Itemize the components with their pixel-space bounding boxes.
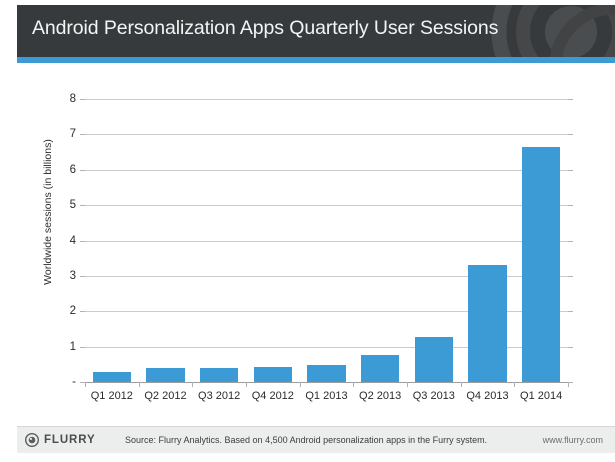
x-tick-mark [568, 382, 569, 387]
y-tick-label: 7 [70, 128, 76, 140]
page-title: Android Personalization Apps Quarterly U… [32, 17, 498, 40]
gridline [85, 99, 568, 100]
x-tick-label: Q4 2012 [246, 390, 300, 402]
y-tick-mark [80, 311, 85, 312]
y-tick-mark-right [568, 347, 573, 348]
x-tick-label: Q1 2013 [300, 390, 354, 402]
y-tick-mark [80, 241, 85, 242]
target-circle-icon [25, 433, 39, 447]
bar[interactable] [468, 265, 506, 382]
bar[interactable] [415, 337, 453, 382]
y-tick-mark [80, 99, 85, 100]
y-tick-mark [80, 276, 85, 277]
bar[interactable] [200, 368, 238, 382]
bar[interactable] [146, 368, 184, 382]
y-tick-mark [80, 170, 85, 171]
x-tick-mark [353, 382, 354, 387]
y-tick-mark-right [568, 241, 573, 242]
y-tick-label: 8 [70, 93, 76, 105]
y-tick-mark [80, 134, 85, 135]
x-tick-mark [246, 382, 247, 387]
source-note: Source: Flurry Analytics. Based on 4,500… [125, 435, 487, 445]
bar[interactable] [307, 365, 345, 382]
y-tick-mark-right [568, 99, 573, 100]
flurry-logo: FLURRY [25, 433, 96, 447]
x-tick-mark [139, 382, 140, 387]
bar[interactable] [93, 372, 131, 382]
bar[interactable] [361, 355, 399, 382]
y-tick-mark-right [568, 311, 573, 312]
x-tick-mark [407, 382, 408, 387]
x-tick-label: Q3 2012 [192, 390, 246, 402]
chart-header-banner: Android Personalization Apps Quarterly U… [17, 5, 615, 57]
x-tick-mark [514, 382, 515, 387]
gridline [85, 205, 568, 206]
x-tick-label: Q1 2014 [514, 390, 568, 402]
y-tick-label: 5 [70, 199, 76, 211]
y-tick-mark-right [568, 134, 573, 135]
y-tick-mark [80, 347, 85, 348]
y-tick-label: 2 [70, 305, 76, 317]
y-tick-label: 4 [70, 235, 76, 247]
x-tick-label: Q3 2013 [407, 390, 461, 402]
bar[interactable] [522, 147, 560, 382]
x-tick-mark [192, 382, 193, 387]
gridline [85, 134, 568, 135]
x-tick-label: Q4 2013 [461, 390, 515, 402]
y-tick-mark-right [568, 205, 573, 206]
flurry-logo-text: FLURRY [44, 434, 96, 446]
plot-area: 87654321-Q1 2012Q2 2012Q3 2012Q4 2012Q1 … [85, 99, 568, 382]
chart-footer: FLURRY Source: Flurry Analytics. Based o… [17, 426, 615, 453]
y-tick-mark-right [568, 170, 573, 171]
y-tick-label: 6 [70, 164, 76, 176]
y-axis-label: Worldwide sessions (in billions) [42, 67, 54, 357]
footer-url[interactable]: www.flurry.com [543, 435, 603, 445]
chart-page: Android Personalization Apps Quarterly U… [0, 0, 615, 462]
y-tick-label: 1 [70, 341, 76, 353]
x-axis-line [85, 382, 568, 383]
x-tick-label: Q2 2012 [139, 390, 193, 402]
x-tick-mark [461, 382, 462, 387]
y-tick-label: - [72, 376, 76, 388]
y-tick-mark-right [568, 276, 573, 277]
x-tick-mark [300, 382, 301, 387]
x-tick-label: Q1 2012 [85, 390, 139, 402]
bar[interactable] [254, 367, 292, 382]
gridline [85, 241, 568, 242]
x-tick-label: Q2 2013 [353, 390, 407, 402]
gridline [85, 170, 568, 171]
y-tick-label: 3 [70, 270, 76, 282]
x-tick-mark [85, 382, 86, 387]
chart-canvas: Worldwide sessions (in billions) 8765432… [0, 63, 615, 418]
y-tick-mark [80, 205, 85, 206]
